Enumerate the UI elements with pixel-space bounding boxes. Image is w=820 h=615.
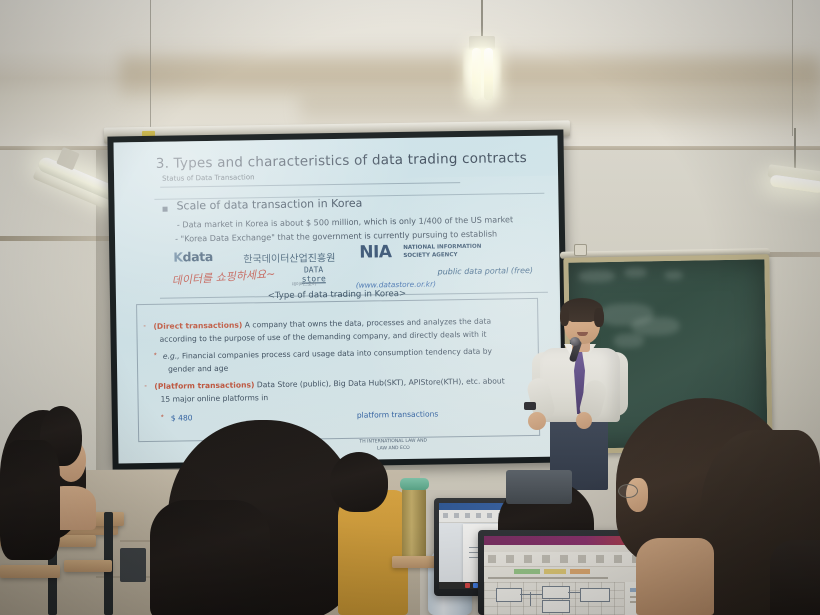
presenter-hair-side-left xyxy=(560,308,569,326)
student-far-right-shoulder xyxy=(770,540,820,615)
spreadsheet-tag-green xyxy=(514,569,540,574)
lecture-hall-photo: 3. Types and characteristics of data tra… xyxy=(0,0,820,615)
student-center-left-hair-fall xyxy=(150,500,270,615)
projector-screen: 3. Types and characteristics of data tra… xyxy=(107,129,568,469)
desk-shelf-center xyxy=(64,560,112,572)
presenter-eye-right xyxy=(587,320,592,322)
presentation-clicker xyxy=(524,402,536,410)
student-left-glasses-hair-long xyxy=(0,440,60,560)
box-item-2-line2: 15 major online platforms in xyxy=(160,392,268,405)
presenter-eye-left xyxy=(571,320,576,322)
flowchart-node-1 xyxy=(496,588,522,602)
desk-base-shadow xyxy=(120,548,146,582)
student-yellow-top-head xyxy=(330,452,388,512)
box-item-3-dash: * xyxy=(161,413,164,422)
presenter-hair-side-right xyxy=(594,308,604,327)
projected-slide: 3. Types and characteristics of data tra… xyxy=(114,136,563,464)
pendant-fluorescent-center xyxy=(460,0,504,100)
doc-taskbar-icon-red xyxy=(465,583,470,588)
box-item-1-line2: gender and age xyxy=(168,363,228,375)
flowchart-connector-1 xyxy=(520,594,542,595)
flowchart-connector-2 xyxy=(568,592,580,593)
spreadsheet-tag-yellow xyxy=(544,569,566,574)
chalkboard-clip xyxy=(574,244,587,256)
box-item-2-dash: - xyxy=(144,381,147,390)
chair-back-right xyxy=(506,470,572,504)
flowchart-node-2 xyxy=(542,586,570,599)
box-item-2-label: (Platform transactions) xyxy=(154,380,254,391)
flowchart-connector-3 xyxy=(530,592,531,606)
hanging-wire-right xyxy=(792,0,793,136)
microphone-head xyxy=(570,337,580,346)
flowchart-node-4 xyxy=(580,588,610,602)
hanging-wire-left xyxy=(150,0,151,140)
water-bottle xyxy=(402,487,426,565)
presenter-hand-right xyxy=(576,412,592,429)
glasses-icon-right-student xyxy=(618,484,638,498)
flowchart-node-3 xyxy=(542,600,570,613)
spreadsheet-tag-orange xyxy=(570,569,590,574)
desk-chair-lower-left xyxy=(0,565,60,578)
student-right-glasses-neck xyxy=(636,538,714,615)
water-bottle-cap xyxy=(400,478,429,490)
box-item-3-label: $ 480 xyxy=(171,412,193,424)
pendant-fluorescent-right xyxy=(768,140,820,210)
spreadsheet-formula-row xyxy=(488,577,608,579)
presenter-hand-left xyxy=(528,412,546,430)
